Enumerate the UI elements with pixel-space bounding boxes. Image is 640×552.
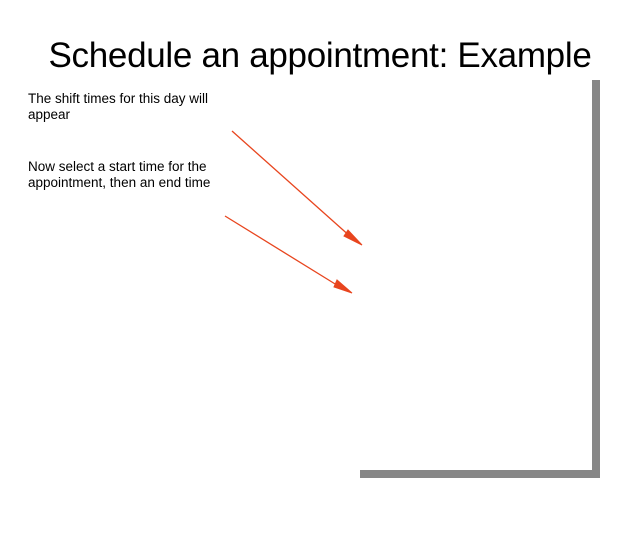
callout-text-shift-times: The shift times for this day will appear xyxy=(28,91,243,123)
arrow-head-2 xyxy=(334,280,352,293)
arrow-line-2 xyxy=(225,216,340,287)
browser-panel: Select a respondent July 2008 MTWTFSS 12… xyxy=(352,80,592,470)
arrow-line-1 xyxy=(232,131,352,238)
slide: Select a respondent July 2008 MTWTFSS 12… xyxy=(0,0,640,480)
page-title: Schedule an appointment: Example xyxy=(0,36,640,76)
screenshot-shadow-bottom xyxy=(360,470,600,478)
screenshot-shadow-right xyxy=(592,80,600,478)
callout-text-select-start: Now select a start time for the appointm… xyxy=(28,159,243,191)
